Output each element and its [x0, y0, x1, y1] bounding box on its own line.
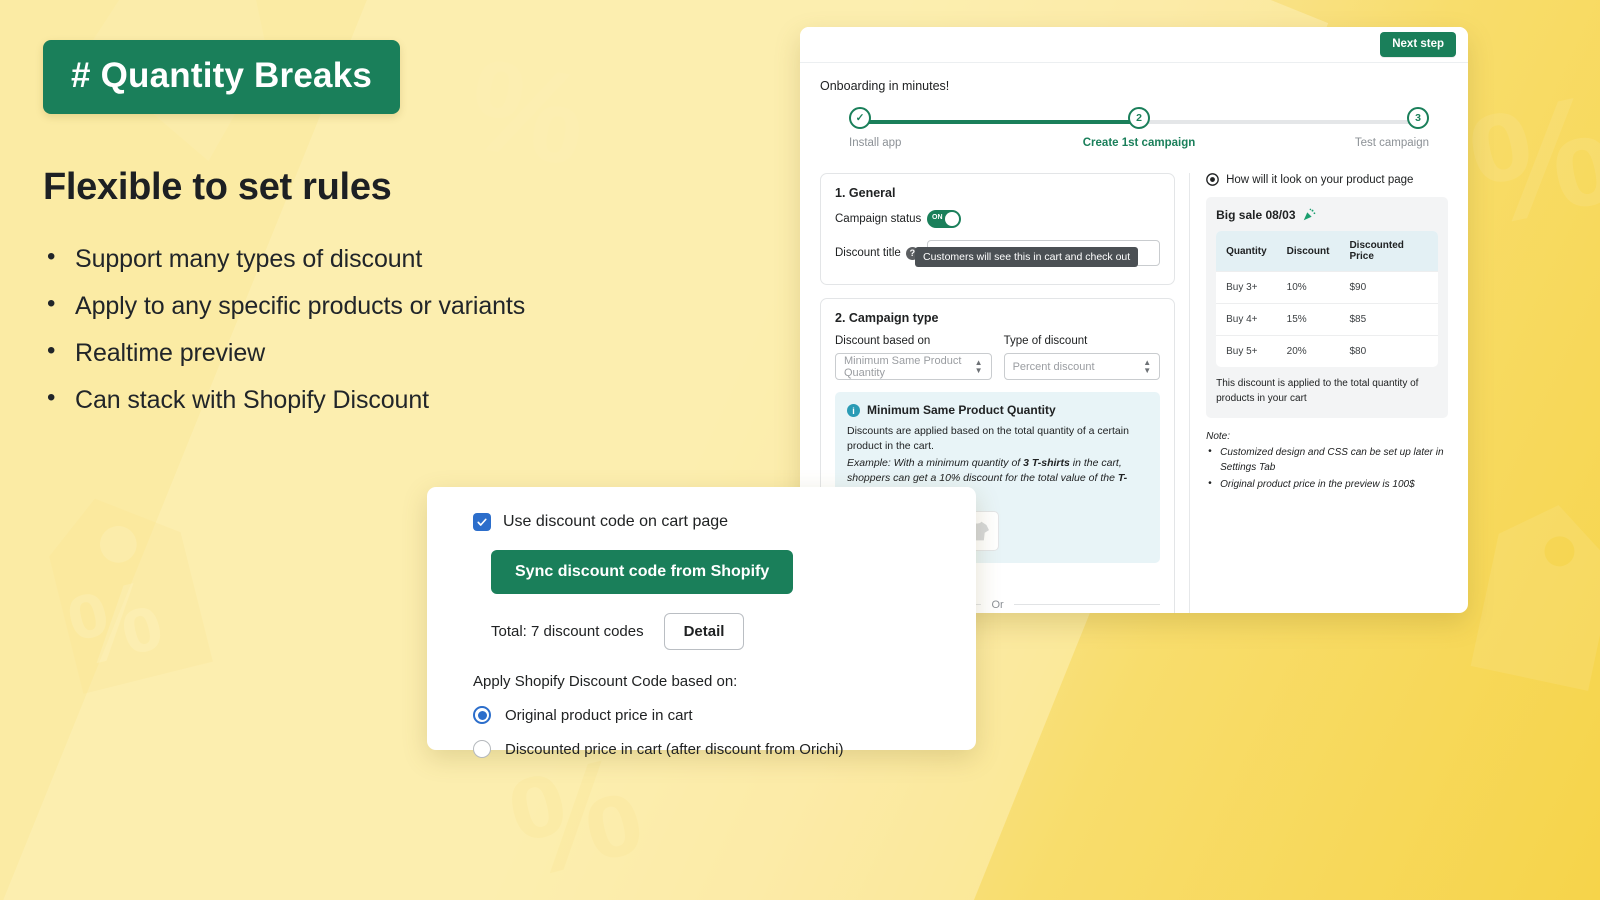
discount-based-on-value: Minimum Same Product Quantity	[844, 355, 975, 379]
svg-text:%: %	[505, 735, 655, 895]
table-row: Buy 4+ 15% $85	[1216, 304, 1438, 336]
onboarding-stepper: ✓ Install app 2 Create 1st campaign 3 Te…	[860, 107, 1418, 163]
or-label: Or	[991, 599, 1003, 611]
discount-based-on-label: Discount based on	[835, 335, 992, 347]
notes-label: Note:	[1206, 431, 1448, 442]
check-icon	[476, 516, 488, 528]
list-item: Realtime preview	[43, 339, 763, 368]
svg-text:%: %	[1470, 60, 1600, 260]
page-title: Flexible to set rules	[43, 166, 763, 209]
radio-unselected-icon	[473, 740, 491, 758]
column-header-discount: Discount	[1277, 231, 1340, 272]
percent-watermark-icon: %	[1470, 60, 1600, 260]
discount-title-tooltip: Customers will see this in cart and chec…	[915, 247, 1138, 267]
promo-column: # Quantity Breaks Flexible to set rules …	[43, 40, 763, 433]
chevron-updown-icon: ▲▼	[975, 359, 983, 373]
card-title-campaign-type: 2. Campaign type	[835, 311, 1160, 325]
radio-original-product-price[interactable]: Original product price in cart	[473, 706, 976, 724]
cell-quantity: Buy 4+	[1216, 304, 1277, 336]
example-prefix: Example: With a minimum quantity of	[847, 457, 1023, 469]
table-row: Buy 5+ 20% $80	[1216, 336, 1438, 368]
list-item: Can stack with Shopify Discount	[43, 386, 763, 415]
price-tag-watermark-icon	[1455, 490, 1600, 720]
cell-quantity: Buy 5+	[1216, 336, 1277, 368]
type-of-discount-value: Percent discount	[1013, 361, 1095, 373]
use-discount-code-row[interactable]: Use discount code on cart page	[473, 513, 976, 531]
discount-based-on-field: Discount based on Minimum Same Product Q…	[835, 335, 992, 380]
discount-title-label: Discount title	[835, 247, 901, 259]
card-title-general: 1. General	[835, 186, 1160, 200]
radio-discounted-price[interactable]: Discounted price in cart (after discount…	[473, 740, 976, 758]
card-general: 1. General Campaign status ON Discount t…	[820, 173, 1175, 285]
preview-header-label: How will it look on your product page	[1226, 174, 1413, 186]
campaign-status-row: Campaign status ON	[835, 210, 1160, 228]
badge-quantity-breaks: # Quantity Breaks	[43, 40, 400, 114]
app-topbar: Next step	[800, 27, 1468, 63]
column-header-discounted-price: Discounted Price	[1339, 231, 1438, 272]
discount-title-label-wrap: Discount title ?	[835, 247, 927, 260]
total-discount-codes-text: Total: 7 discount codes	[491, 623, 644, 640]
price-tag-watermark-icon: %	[30, 480, 230, 730]
radio-selected-icon	[473, 706, 491, 724]
feature-bullet-list: Support many types of discount Apply to …	[43, 245, 763, 415]
onboarding-title: Onboarding in minutes!	[820, 79, 1448, 93]
list-item: Support many types of discount	[43, 245, 763, 274]
cell-discount: 15%	[1277, 304, 1340, 336]
stepper-number-icon: 3	[1407, 107, 1429, 129]
stepper-label: Create 1st campaign	[1083, 137, 1196, 149]
use-discount-code-label: Use discount code on cart page	[503, 513, 728, 531]
cell-discounted-price: $85	[1339, 304, 1438, 336]
info-box-title: Minimum Same Product Quantity	[867, 403, 1056, 417]
column-header-quantity: Quantity	[1216, 231, 1277, 272]
preview-discount-table: Quantity Discount Discounted Price Buy 3…	[1216, 231, 1438, 367]
type-of-discount-field: Type of discount Percent discount ▲▼	[1004, 335, 1161, 380]
type-of-discount-select[interactable]: Percent discount ▲▼	[1004, 353, 1161, 380]
next-step-button[interactable]: Next step	[1380, 32, 1456, 57]
cell-discount: 20%	[1277, 336, 1340, 368]
campaign-status-toggle[interactable]: ON	[927, 210, 961, 228]
list-item: Apply to any specific products or varian…	[43, 292, 763, 321]
preview-box: Big sale 08/03 Quantity	[1206, 197, 1448, 418]
percent-watermark-icon: %	[505, 735, 665, 895]
info-box-body: Discounts are applied based on the total…	[847, 424, 1148, 454]
table-row: Buy 3+ 10% $90	[1216, 272, 1438, 304]
radio-label: Discounted price in cart (after discount…	[505, 741, 843, 758]
stepper-track-fill	[860, 120, 1139, 124]
radio-label: Original product price in cart	[505, 707, 693, 724]
list-item: Customized design and CSS can be set up …	[1206, 446, 1448, 475]
preview-campaign-name: Big sale 08/03	[1216, 208, 1295, 222]
chevron-updown-icon: ▲▼	[1143, 359, 1151, 373]
preview-notes: Note: Customized design and CSS can be s…	[1206, 431, 1448, 493]
total-codes-row: Total: 7 discount codes Detail	[491, 613, 976, 650]
stepper-label: Test campaign	[1355, 137, 1429, 149]
notes-list: Customized design and CSS can be set up …	[1206, 446, 1448, 493]
cell-discounted-price: $90	[1339, 272, 1438, 304]
checkbox-use-discount-code[interactable]	[473, 513, 491, 531]
preview-column: How will it look on your product page Bi…	[1189, 173, 1448, 613]
campaign-status-label: Campaign status	[835, 213, 927, 225]
party-popper-icon	[1302, 208, 1316, 222]
eye-icon	[1206, 173, 1219, 186]
cell-quantity: Buy 3+	[1216, 272, 1277, 304]
example-bold-1: 3 T-shirts	[1023, 457, 1070, 469]
table-header-row: Quantity Discount Discounted Price	[1216, 231, 1438, 272]
list-item: Original product price in the preview is…	[1206, 478, 1448, 493]
stepper-number-icon: 2	[1128, 107, 1150, 129]
stepper-check-icon: ✓	[849, 107, 871, 129]
apply-discount-code-label: Apply Shopify Discount Code based on:	[473, 673, 976, 690]
preview-footer-note: This discount is applied to the total qu…	[1216, 377, 1438, 406]
campaign-type-fields: Discount based on Minimum Same Product Q…	[835, 335, 1160, 380]
preview-header: How will it look on your product page	[1206, 173, 1448, 186]
separator-line	[1014, 604, 1160, 605]
sync-discount-code-button[interactable]: Sync discount code from Shopify	[491, 550, 793, 594]
toggle-state-label: ON	[932, 214, 943, 221]
info-icon: i	[847, 404, 860, 417]
cell-discounted-price: $80	[1339, 336, 1438, 368]
type-of-discount-label: Type of discount	[1004, 335, 1161, 347]
discount-tiers-table: Quantity Discount Discounted Price Buy 3…	[1216, 231, 1438, 367]
discount-code-modal: Use discount code on cart page Sync disc…	[427, 487, 976, 750]
cell-discount: 10%	[1277, 272, 1340, 304]
discount-based-on-select[interactable]: Minimum Same Product Quantity ▲▼	[835, 353, 992, 380]
toggle-knob	[945, 212, 959, 226]
detail-button[interactable]: Detail	[664, 613, 745, 650]
info-box-header: i Minimum Same Product Quantity	[847, 403, 1148, 417]
stepper-label: Install app	[849, 137, 901, 149]
preview-campaign-name-row: Big sale 08/03	[1216, 208, 1438, 222]
